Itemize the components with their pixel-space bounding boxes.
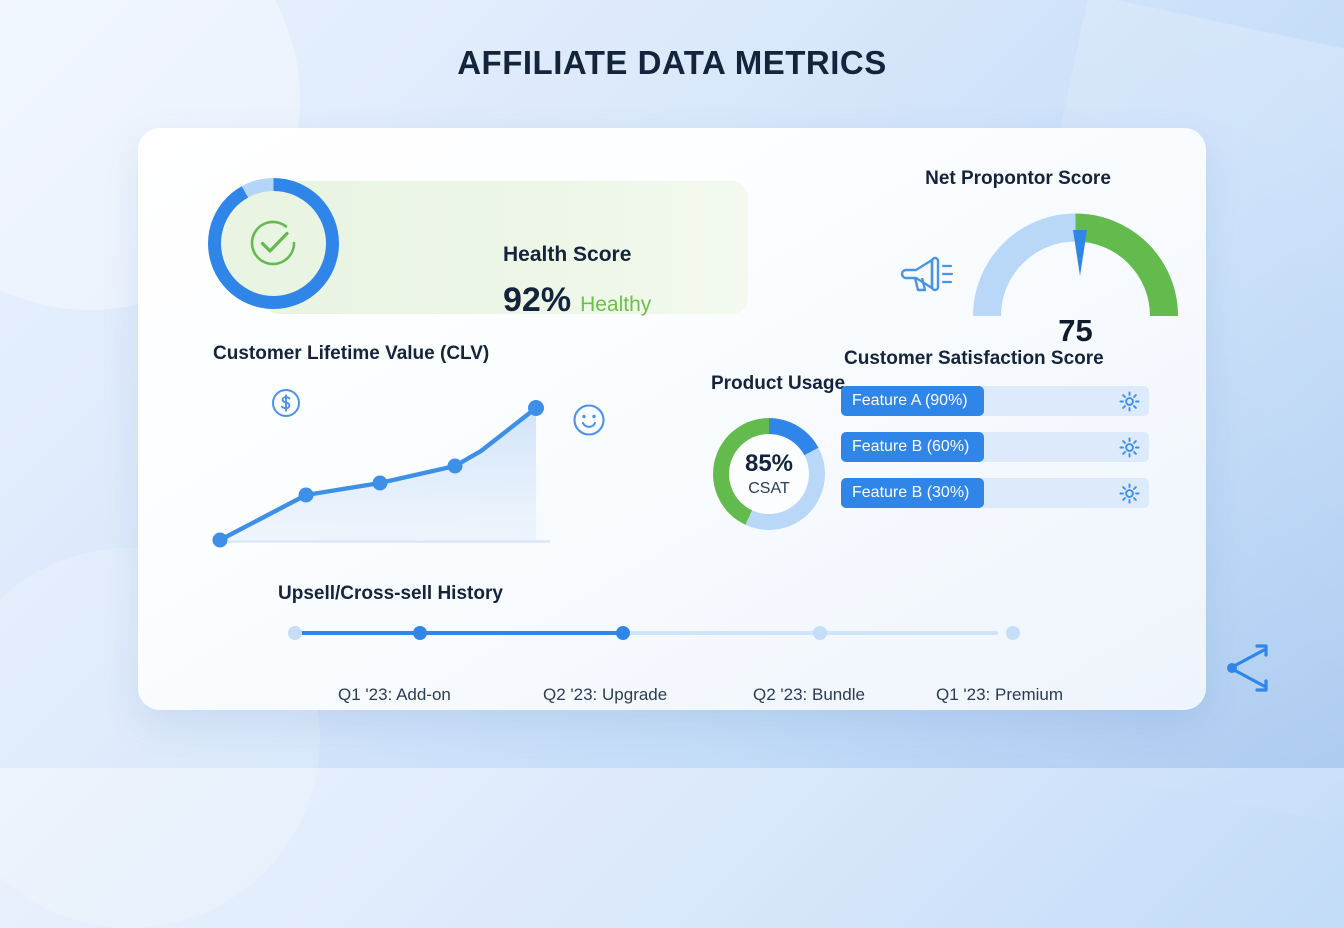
product-usage-sublabel: CSAT (748, 480, 789, 498)
smiley-circle-icon (572, 403, 606, 442)
dashboard-panel: Health Score 92% Healthy Net Propontor S… (138, 128, 1206, 710)
share-icon[interactable] (1223, 643, 1277, 698)
gear-icon[interactable] (1119, 437, 1140, 463)
timeline-track: Q1 '23: Add-on Q2 '23: Upgrade Q2 '23: B… (278, 623, 1158, 643)
timeline-dot[interactable] (413, 626, 427, 640)
gear-icon[interactable] (1119, 391, 1140, 417)
csat-title: Customer Satisfaction Score (838, 348, 1168, 370)
megaphone-icon (898, 248, 960, 305)
health-score-text: Health Score 92% Healthy (503, 243, 651, 320)
csat-bar-row[interactable]: Feature A (90%) (841, 386, 1149, 416)
nps-value: 75 (973, 313, 1178, 349)
csat-bar-row[interactable]: Feature B (30%) (841, 478, 1149, 508)
nps-gauge-needle (1073, 230, 1087, 276)
clv-line-chart (198, 373, 618, 563)
timeline-label: Q1 '23: Premium (936, 685, 1063, 705)
csat-bar-fill: Feature B (30%) (841, 478, 984, 508)
csat-block: Customer Satisfaction Score Feature A (9… (838, 348, 1168, 508)
health-score-donut (208, 178, 339, 309)
product-usage-donut: 85% CSAT (713, 418, 825, 530)
gear-icon[interactable] (1119, 483, 1140, 509)
timeline-dot[interactable] (616, 626, 630, 640)
timeline-title: Upsell/Cross-sell History (268, 583, 1208, 605)
nps-gauge: 75 (973, 213, 1178, 318)
timeline-label: Q2 '23: Upgrade (543, 685, 667, 705)
nps-block: Net Propontor Score 75 (768, 168, 1188, 190)
timeline-block: Upsell/Cross-sell History Q1 '23: Add-on… (268, 583, 1208, 605)
page-title: AFFILIATE DATA METRICS (0, 44, 1344, 82)
clv-block: Customer Lifetime Value (CLV) (198, 343, 618, 365)
timeline-dot[interactable] (1006, 626, 1020, 640)
timeline-label: Q2 '23: Bundle (753, 685, 865, 705)
clv-title: Customer Lifetime Value (CLV) (198, 343, 618, 365)
timeline-label: Q1 '23: Add-on (338, 685, 451, 705)
health-score-value: 92% (503, 281, 571, 320)
product-usage-percent: 85% (745, 450, 793, 478)
timeline-dot[interactable] (813, 626, 827, 640)
nps-title: Net Propontor Score (863, 168, 1173, 190)
csat-bar-fill: Feature B (60%) (841, 432, 984, 462)
dollar-circle-icon (271, 388, 301, 423)
health-score-status: Healthy (580, 293, 651, 317)
check-circle-icon (244, 214, 302, 277)
csat-bar-fill: Feature A (90%) (841, 386, 984, 416)
csat-bar-row[interactable]: Feature B (60%) (841, 432, 1149, 462)
health-score-label: Health Score (503, 243, 651, 267)
timeline-dot[interactable] (288, 626, 302, 640)
timeline-line-progress (293, 631, 623, 635)
